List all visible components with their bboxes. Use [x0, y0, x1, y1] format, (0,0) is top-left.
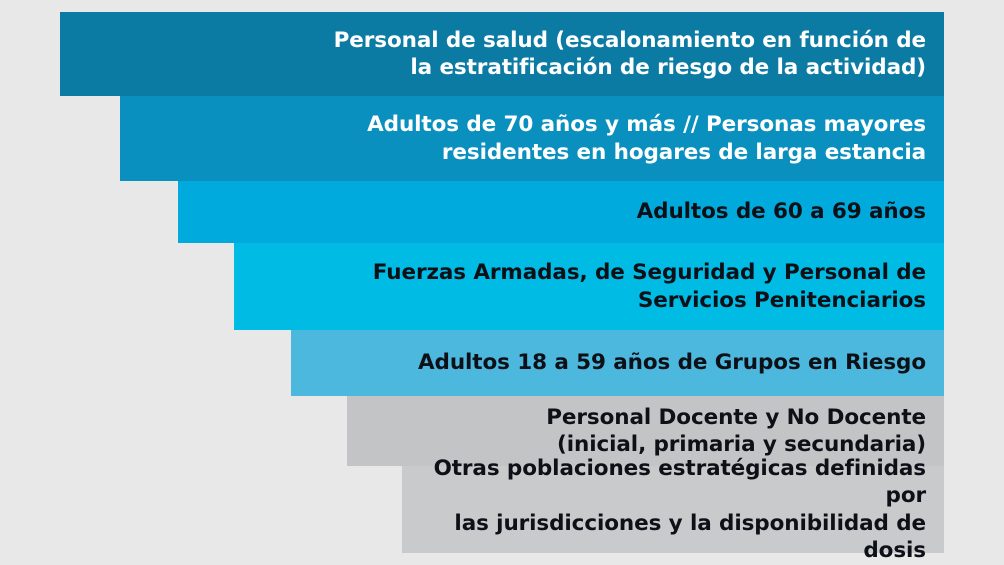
- chart-bar-label: Otras poblaciones estratégicas definidas…: [402, 455, 926, 563]
- chart-bar: Personal de salud (escalonamiento en fun…: [60, 12, 944, 96]
- chart-bar: Adultos de 60 a 69 años: [178, 181, 944, 243]
- chart-bar: Adultos de 70 años y más // Personas may…: [120, 96, 944, 181]
- chart-bar-label: Fuerzas Armadas, de Seguridad y Personal…: [373, 259, 926, 313]
- vaccination-priority-funnel-chart: Personal de salud (escalonamiento en fun…: [0, 0, 1004, 565]
- chart-bar: Otras poblaciones estratégicas definidas…: [402, 466, 944, 553]
- chart-bar-label: Adultos de 60 a 69 años: [637, 198, 926, 225]
- chart-bar-label: Adultos de 70 años y más // Personas may…: [367, 111, 926, 165]
- chart-bar: Fuerzas Armadas, de Seguridad y Personal…: [234, 243, 944, 330]
- chart-bar-label: Adultos 18 a 59 años de Grupos en Riesgo: [418, 349, 926, 376]
- chart-bar: Adultos 18 a 59 años de Grupos en Riesgo: [291, 330, 944, 396]
- chart-bar-label: Personal de salud (escalonamiento en fun…: [334, 27, 926, 81]
- chart-bar-label: Personal Docente y No Docente (inicial, …: [546, 404, 926, 458]
